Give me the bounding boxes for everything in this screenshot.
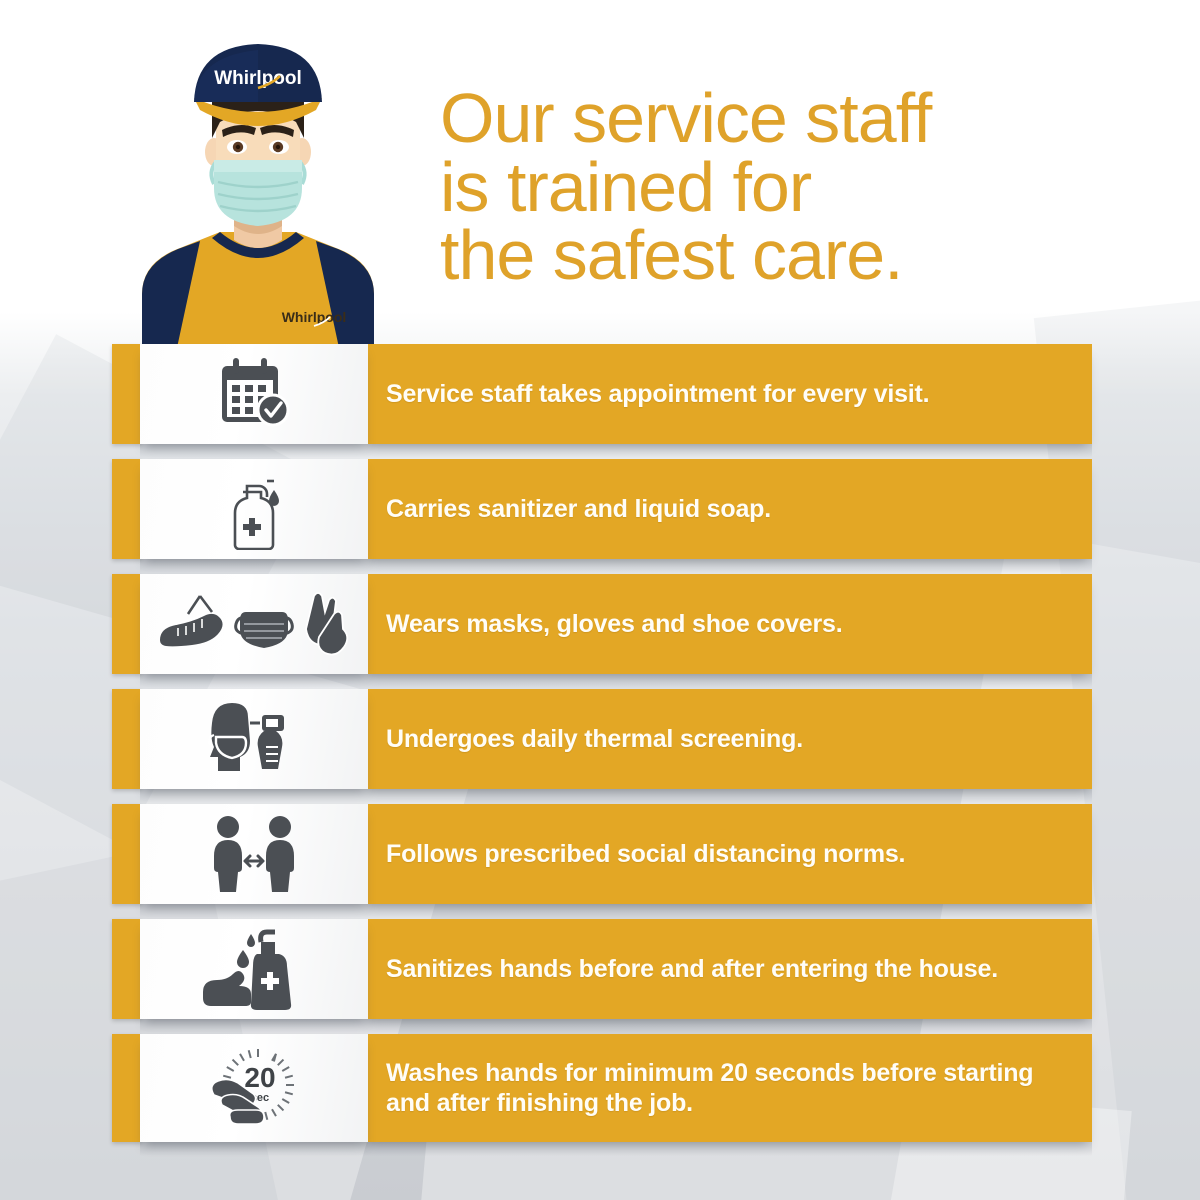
list-item: Undergoes daily thermal screening. (0, 689, 1200, 789)
icon-panel (140, 689, 368, 789)
icon-panel (140, 574, 368, 674)
list-item: 20 sec Washes hands for minimum 20 secon… (0, 1034, 1200, 1142)
face-mask-icon (236, 612, 293, 648)
row-accent-tab (112, 574, 142, 674)
list-item: Sanitizes hands before and after enterin… (0, 919, 1200, 1019)
calendar-check-icon (208, 354, 300, 434)
row-shadow (140, 674, 1092, 688)
list-item: Follows prescribed social distancing nor… (0, 804, 1200, 904)
measure-text: Follows prescribed social distancing nor… (362, 839, 905, 870)
measure-text: Washes hands for minimum 20 seconds befo… (362, 1058, 1033, 1119)
list-item: Carries sanitizer and liquid soap. (0, 459, 1200, 559)
technician-illustration: Whirlpool Whirlpool (108, 26, 408, 371)
row-shadow (140, 904, 1092, 918)
headline-line-3: the safest care. (440, 221, 1100, 290)
wash-hands-20sec-icon: 20 sec (196, 1043, 312, 1133)
safety-measures-list: Service staff takes appointment for ever… (0, 344, 1200, 1157)
cap-brand-label: Whirlpool (214, 68, 302, 89)
sanitizer-bottle-icon (219, 468, 289, 550)
shoe-cover-icon (160, 596, 223, 646)
gloves-icon (306, 593, 347, 655)
measure-bar: Washes hands for minimum 20 seconds befo… (362, 1034, 1092, 1142)
row-shadow (140, 559, 1092, 573)
measure-bar: Undergoes daily thermal screening. (362, 689, 1092, 789)
measure-text-line-1: Washes hands for minimum 20 seconds befo… (386, 1058, 1033, 1089)
icon-panel (140, 804, 368, 904)
measure-bar: Wears masks, gloves and shoe covers. (362, 574, 1092, 674)
social-distancing-icon (202, 813, 306, 895)
safety-poster: Our service staff is trained for the saf… (0, 0, 1200, 1200)
row-shadow (140, 444, 1092, 458)
icon-panel (140, 344, 368, 444)
row-accent-tab (112, 344, 142, 444)
icon-panel (140, 919, 368, 1019)
measure-text: Sanitizes hands before and after enterin… (362, 954, 998, 985)
measure-bar: Carries sanitizer and liquid soap. (362, 459, 1092, 559)
row-accent-tab (112, 459, 142, 559)
row-shadow (140, 1019, 1092, 1033)
measure-bar: Sanitizes hands before and after enterin… (362, 919, 1092, 1019)
hand-sanitize-icon (199, 926, 309, 1012)
headline-line-1: Our service staff (440, 84, 1100, 153)
measure-text: Wears masks, gloves and shoe covers. (362, 609, 842, 640)
row-shadow (140, 789, 1092, 803)
measure-bar: Service staff takes appointment for ever… (362, 344, 1092, 444)
timer-value: 20 (244, 1062, 275, 1093)
row-accent-tab (112, 804, 142, 904)
list-item: Service staff takes appointment for ever… (0, 344, 1200, 444)
shirt-brand-label: Whirlpool (282, 309, 347, 325)
measure-text: Service staff takes appointment for ever… (362, 379, 929, 410)
row-accent-tab (112, 689, 142, 789)
icon-panel: 20 sec (140, 1034, 368, 1142)
shoe-cover-mask-gloves-icon (154, 588, 354, 660)
thermal-screening-icon (202, 699, 306, 779)
icon-panel (140, 459, 368, 559)
headline-line-2: is trained for (440, 153, 1100, 222)
measure-text-line-2: and after finishing the job. (386, 1088, 1033, 1119)
row-accent-tab (112, 919, 142, 1019)
measure-bar: Follows prescribed social distancing nor… (362, 804, 1092, 904)
page-title: Our service staff is trained for the saf… (440, 84, 1100, 290)
measure-text: Undergoes daily thermal screening. (362, 724, 803, 755)
list-item: Wears masks, gloves and shoe covers. (0, 574, 1200, 674)
measure-text: Carries sanitizer and liquid soap. (362, 494, 771, 525)
row-accent-tab (112, 1034, 142, 1142)
row-shadow (140, 1142, 1092, 1156)
